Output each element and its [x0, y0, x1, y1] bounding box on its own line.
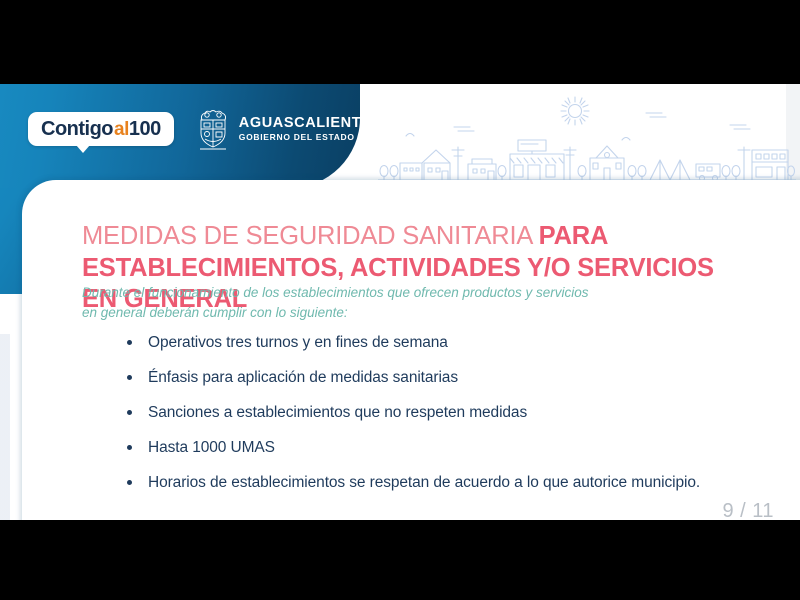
city-skyline-illustration — [378, 92, 796, 192]
apartment-block-icon — [752, 150, 788, 180]
government-subtitle: GOBIERNO DEL ESTADO — [239, 133, 382, 142]
tree-icon — [722, 166, 740, 181]
letterbox-bottom-bar — [0, 520, 800, 600]
utility-pole-icon — [564, 147, 576, 180]
list-item: Operativos tres turnos y en fines de sem… — [124, 334, 764, 353]
logo-word-al: al — [114, 120, 129, 139]
subtitle-line-1: Durante el funcionamiento de los estable… — [82, 283, 702, 303]
measures-bullet-list: Operativos tres turnos y en fines de sem… — [124, 334, 764, 509]
presentation-slide: Contigo al 100 — [0, 84, 800, 521]
tree-icon — [498, 166, 506, 181]
subtitle-line-2: en general deberán cumplir con lo siguie… — [82, 303, 702, 323]
tent-icon — [650, 160, 690, 180]
lamp-post-icon — [452, 147, 464, 180]
letterbox-top-bar — [0, 0, 800, 84]
list-item: Sanciones a establecimientos que no resp… — [124, 404, 764, 423]
government-logo-text: AGUASCALIENTES GOBIERNO DEL ESTADO — [239, 116, 382, 142]
government-name: AGUASCALIENTES — [239, 116, 382, 131]
video-player-viewport: Contigo al 100 — [0, 0, 800, 600]
tree-icon — [380, 166, 398, 181]
coat-of-arms-icon — [196, 108, 230, 150]
tree-icon — [628, 166, 646, 181]
list-item: Horarios de establecimientos se respetan… — [124, 474, 764, 493]
building-icon — [400, 163, 422, 180]
tree-icon — [578, 166, 586, 181]
list-item: Hasta 1000 UMAS — [124, 439, 764, 458]
slide-subtitle: Durante el funcionamiento de los estable… — [82, 283, 702, 324]
house-icon — [422, 150, 450, 180]
civic-building-icon — [590, 146, 624, 180]
brand-logo-row: Contigo al 100 — [28, 108, 382, 150]
cloud-icon — [454, 113, 750, 131]
page-number-indicator: 9 / 11 — [722, 500, 774, 521]
logo-word-contigo: Contigo — [41, 119, 113, 139]
shop-icon — [468, 159, 496, 180]
aguascalientes-government-logo: AGUASCALIENTES GOBIERNO DEL ESTADO — [196, 108, 382, 150]
bus-icon — [696, 164, 720, 181]
logo-word-100: 100 — [129, 119, 161, 139]
sun-icon — [561, 97, 589, 125]
headline-light-part: MEDIDAS DE SEGURIDAD SANITARIA — [82, 222, 539, 250]
storefront-icon — [510, 140, 564, 180]
list-item: Énfasis para aplicación de medidas sanit… — [124, 369, 764, 388]
utility-pole-icon — [738, 147, 750, 180]
contigo-al-100-logo: Contigo al 100 — [28, 112, 174, 146]
bird-icon — [406, 134, 630, 141]
